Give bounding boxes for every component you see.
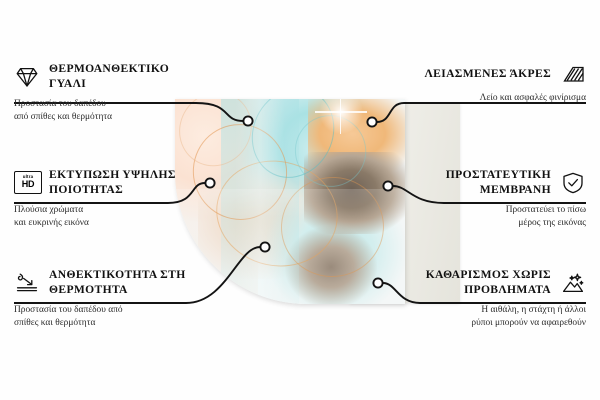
feature-polished-edges[interactable]: ΛΕΙΑΣΜΕΝΕΣ ΆΚΡΕΣ Λείο και ασφαλές φινίρι… <box>400 62 586 105</box>
diamond-icon <box>14 65 40 89</box>
feature-heat-resistant-glass[interactable]: ΘΕΡΜΟΑΝΘΕΚΤΙΚΟ ΓΥΑΛΙ Προστασία του δαπέδ… <box>14 62 200 124</box>
easy-clean-icon <box>560 271 586 295</box>
feature-subtitle: Προστατεύει το πίσωμέρος της εικόνας <box>400 204 586 231</box>
feature-title: ΛΕΙΑΣΜΕΝΕΣ ΆΚΡΕΣ <box>400 67 551 82</box>
heat-resistance-icon <box>14 271 40 295</box>
feature-high-quality-print[interactable]: ultra HD ΕΚΤΥΠΩΣΗ ΥΨΗΛΗΣ ΠΟΙΟΤΗΤΑΣ Πλούσ… <box>14 168 200 230</box>
glass-panel <box>175 99 405 304</box>
light-glare <box>318 99 364 135</box>
feature-title: ΚΑΘΑΡΙΣΜΟΣ ΧΩΡΙΣ ΠΡΟΒΛΗΜΑΤΑ <box>400 268 551 298</box>
feature-title: ΘΕΡΜΟΑΝΘΕΚΤΙΚΟ ΓΥΑΛΙ <box>49 62 200 92</box>
shield-check-icon <box>560 171 586 195</box>
feature-subtitle: Λείο και ασφαλές φινίρισμα <box>400 92 586 105</box>
feature-subtitle: Πλούσια χρώματακαι ευκρινής εικόνα <box>14 204 200 231</box>
feature-title: ΠΡΟΣΤΑΤΕΥΤΙΚΗ ΜΕΜΒΡΑΝΗ <box>400 168 551 198</box>
feature-subtitle: Προστασία του δαπέδουαπό σπίθες και θερμ… <box>14 98 200 125</box>
ultra-hd-icon: ultra HD <box>14 171 40 195</box>
artwork-surface <box>175 99 405 304</box>
feature-title: ΕΚΤΥΠΩΣΗ ΥΨΗΛΗΣ ΠΟΙΟΤΗΤΑΣ <box>49 168 200 198</box>
polished-edges-icon <box>560 62 586 86</box>
feature-subtitle: Προστασία του δαπέδου απόσπίθες και θερμ… <box>14 304 200 331</box>
feature-subtitle: Η αιθάλη, η στάχτη ή άλλοιρύποι μπορούν … <box>400 304 586 331</box>
hd-label: HD <box>22 180 35 189</box>
feature-title: ΑΝΘΕΚΤΙΚΟΤΗΤΑ ΣΤΗ ΘΕΡΜΟΤΗΤΑ <box>49 268 200 298</box>
infographic-canvas: ΘΕΡΜΟΑΝΘΕΚΤΙΚΟ ΓΥΑΛΙ Προστασία του δαπέδ… <box>0 0 600 400</box>
feature-easy-cleaning[interactable]: ΚΑΘΑΡΙΣΜΟΣ ΧΩΡΙΣ ΠΡΟΒΛΗΜΑΤΑ Η αιθάλη, η … <box>400 268 586 330</box>
feature-protective-membrane[interactable]: ΠΡΟΣΤΑΤΕΥΤΙΚΗ ΜΕΜΒΡΑΝΗ Προστατεύει το πί… <box>400 168 586 230</box>
feature-heat-resistance[interactable]: ΑΝΘΕΚΤΙΚΟΤΗΤΑ ΣΤΗ ΘΕΡΜΟΤΗΤΑ Προστασία το… <box>14 268 200 330</box>
